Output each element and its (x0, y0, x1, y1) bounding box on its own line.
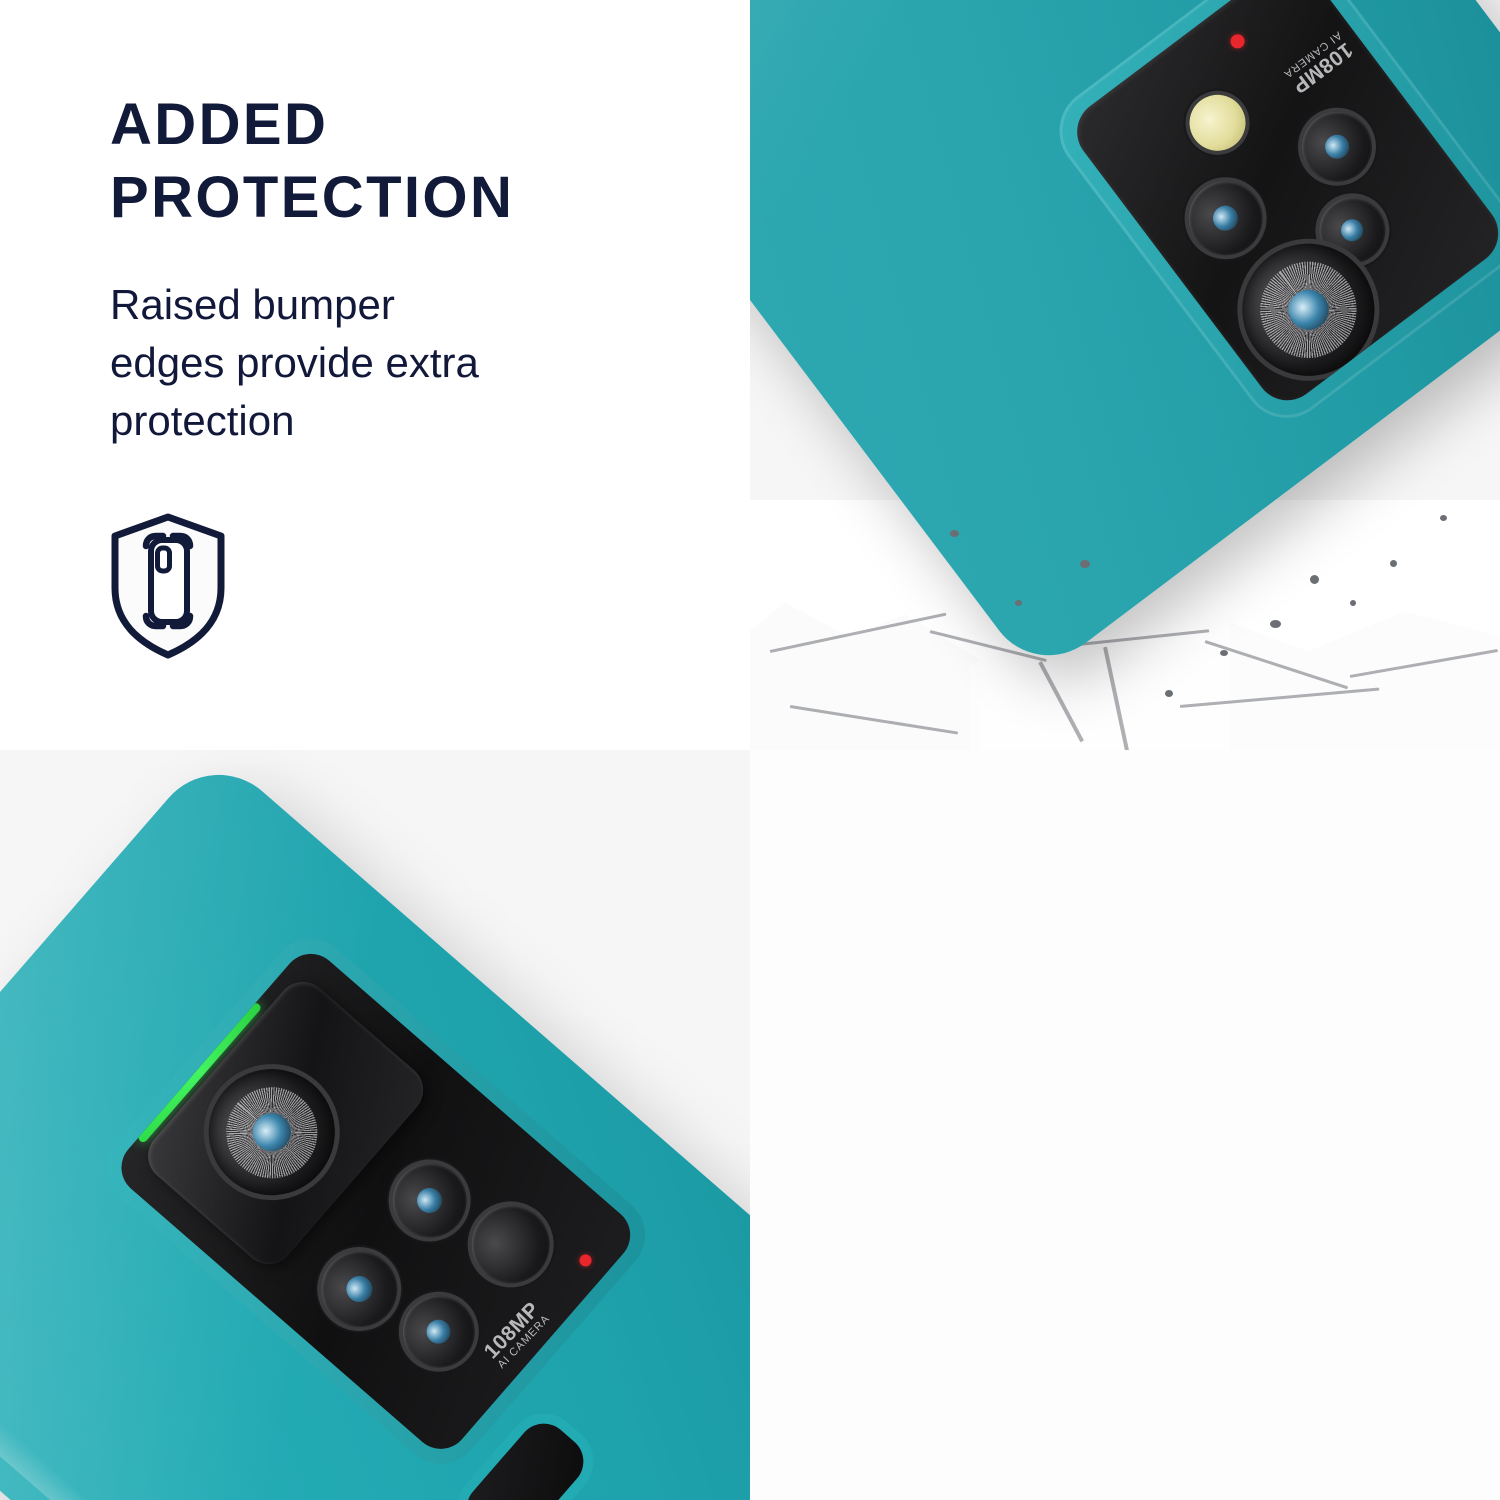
laser-af-dot (577, 1252, 594, 1269)
flash-led (1178, 84, 1256, 162)
camera-lens-main (183, 1044, 361, 1222)
camera-mp-label: 108MP AI CAMERA (1281, 28, 1357, 97)
camera-closeup-scene: + | (0, 750, 750, 1500)
phone-camera-closeup-photo: + | (0, 750, 750, 1500)
camera-mp-label: 108MP AI CAMERA (480, 1298, 552, 1371)
product-feature-collage: ADDED PROTECTION Raised bumper edges pro… (0, 0, 1500, 1500)
lens-glass (1337, 215, 1368, 246)
camera-lens-depth (456, 1189, 566, 1299)
camera-lens-ultrawide (306, 1235, 413, 1342)
camera-lens-macro (388, 1281, 490, 1383)
impact-scene: 108MP AI CAMERA (750, 0, 1500, 750)
lens-glass (341, 1271, 377, 1307)
added-protection-subcopy: Raised bumper edges provide extra protec… (110, 276, 690, 450)
camera-lens-tele (1288, 98, 1386, 196)
shield-phone-icon (108, 512, 228, 660)
lens-glass (412, 1183, 447, 1218)
phone-with-case: + | (0, 750, 750, 1500)
lens-glass (1320, 130, 1353, 163)
laser-af-dot (1228, 32, 1248, 52)
lens-glass (422, 1314, 457, 1349)
panel-protects-camera: PROTECTS CAMERA Raised edges protect cam… (750, 750, 1500, 1500)
panel-added-protection: ADDED PROTECTION Raised bumper edges pro… (0, 0, 750, 750)
added-protection-headline: ADDED PROTECTION (110, 88, 690, 234)
added-protection-text-block: ADDED PROTECTION Raised bumper edges pro… (110, 88, 690, 450)
phone-impact-photo: 108MP AI CAMERA (750, 0, 1500, 750)
lens-glass (1208, 201, 1243, 236)
camera-lens-ultrawide (1174, 166, 1278, 270)
camera-lens-tele (377, 1148, 481, 1252)
